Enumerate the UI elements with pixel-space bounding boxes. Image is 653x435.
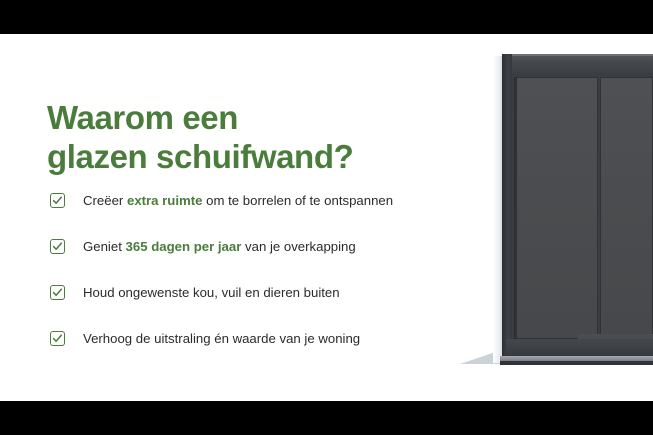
page-title-line-2: glazen schuifwand? xyxy=(47,137,447,176)
glass-panels xyxy=(514,77,653,339)
bottom-rail xyxy=(506,339,653,357)
list-item-text-post: van je overkapping xyxy=(241,239,355,254)
page-title-line-1: Waarom een xyxy=(47,98,447,137)
bottom-sill-shadow xyxy=(500,361,653,365)
checkbox-checked-icon xyxy=(50,285,65,300)
glass-mullion xyxy=(514,77,517,339)
slide-content-area: Waarom een glazen schuifwand? Creëer ext… xyxy=(0,34,653,401)
frame-post-left xyxy=(502,54,512,364)
letterbox-bar-top xyxy=(0,0,653,34)
list-item-label: Creëer extra ruimte om te borrelen of te… xyxy=(83,192,393,209)
list-item-text-post: om te borrelen of te ontspannen xyxy=(202,193,393,208)
list-item-label: Verhoog de uitstraling én waarde van je … xyxy=(83,330,360,347)
list-item-text-pre: Geniet xyxy=(83,239,126,254)
list-item: Houd ongewenste kou, vuil en dieren buit… xyxy=(50,284,470,330)
list-item: Geniet 365 dagen per jaar van je overkap… xyxy=(50,238,470,284)
checkbox-checked-icon xyxy=(50,193,65,208)
list-item-text-highlight: extra ruimte xyxy=(127,193,203,208)
list-item-label: Geniet 365 dagen per jaar van je overkap… xyxy=(83,238,356,255)
slide-canvas: Waarom een glazen schuifwand? Creëer ext… xyxy=(0,0,653,435)
list-item: Creëer extra ruimte om te borrelen of te… xyxy=(50,192,470,238)
benefit-list: Creëer extra ruimte om te borrelen of te… xyxy=(50,192,470,376)
glass-pane-right xyxy=(600,77,653,339)
checkbox-checked-icon xyxy=(50,239,65,254)
list-item-text-pre: Verhoog de uitstraling én waarde van je … xyxy=(83,331,360,346)
list-item-text-pre: Creëer xyxy=(83,193,127,208)
list-item: Verhoog de uitstraling én waarde van je … xyxy=(50,330,470,376)
list-item-text-highlight: 365 dagen per jaar xyxy=(126,239,242,254)
letterbox-bar-bottom xyxy=(0,401,653,435)
checkbox-checked-icon xyxy=(50,331,65,346)
page-title: Waarom een glazen schuifwand? xyxy=(47,98,447,176)
glass-pane-left xyxy=(514,77,598,339)
list-item-text-pre: Houd ongewenste kou, vuil en dieren buit… xyxy=(83,285,340,300)
frame-header-beam xyxy=(502,54,653,73)
list-item-label: Houd ongewenste kou, vuil en dieren buit… xyxy=(83,284,340,301)
frame-header-highlight xyxy=(502,54,653,56)
